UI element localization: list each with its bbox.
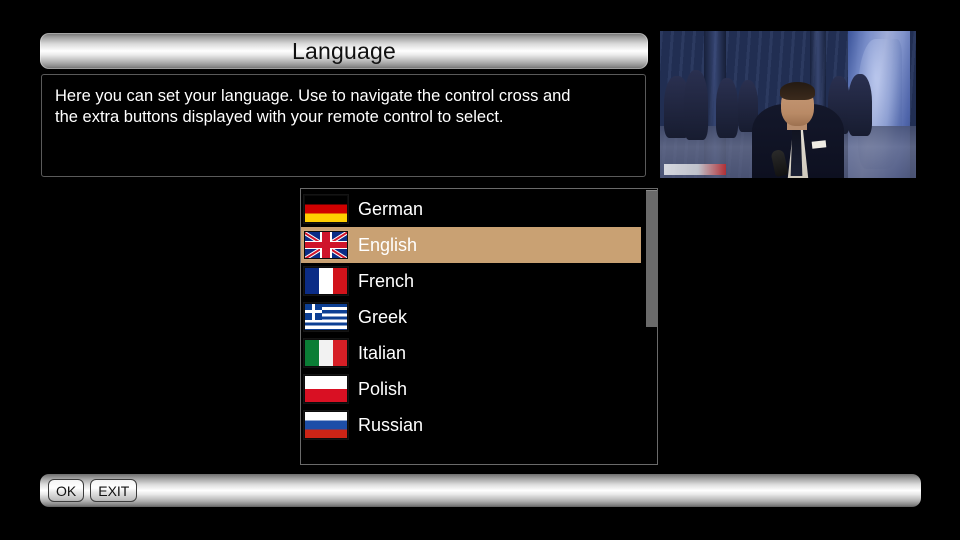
page-title-bar: Language: [40, 33, 648, 69]
live-tv-preview[interactable]: [660, 31, 916, 178]
language-list-item-label: French: [358, 272, 414, 290]
osd-screen: Language Here you can set your language.…: [0, 0, 960, 540]
ok-button[interactable]: OK: [48, 479, 84, 502]
exit-button[interactable]: EXIT: [90, 479, 137, 502]
description-text: Here you can set your language. Use to n…: [55, 86, 632, 128]
language-list-item-label: Russian: [358, 416, 423, 434]
page-title: Language: [292, 40, 396, 63]
flag-poland-icon: [304, 375, 348, 403]
preview-reporter-hair: [780, 82, 815, 100]
language-list[interactable]: GermanEnglishFrenchGreekItalianPolishRus…: [301, 191, 641, 443]
language-list-item-label: Greek: [358, 308, 407, 326]
exit-button-label: EXIT: [98, 484, 129, 498]
language-list-item[interactable]: French: [301, 263, 641, 299]
ok-button-label: OK: [56, 484, 76, 498]
preview-crowd-figure: [684, 70, 708, 140]
preview-broadcaster-logo: [664, 164, 726, 175]
language-list-item-label: Polish: [358, 380, 407, 398]
language-list-panel[interactable]: GermanEnglishFrenchGreekItalianPolishRus…: [300, 188, 658, 465]
flag-germany-icon: [304, 195, 348, 223]
language-list-item-label: Italian: [358, 344, 406, 362]
language-list-item[interactable]: German: [301, 191, 641, 227]
flag-italy-icon: [304, 339, 348, 367]
flag-greece-icon: [304, 303, 348, 331]
description-panel: Here you can set your language. Use to n…: [41, 74, 646, 177]
flag-russia-icon: [304, 411, 348, 439]
language-list-item-label: German: [358, 200, 423, 218]
language-list-item-label: English: [358, 236, 417, 254]
preview-crowd-figure: [848, 74, 872, 136]
flag-france-icon: [304, 267, 348, 295]
language-list-item[interactable]: Russian: [301, 407, 641, 443]
language-list-item[interactable]: English: [301, 227, 641, 263]
flag-united-kingdom-icon: [304, 231, 348, 259]
softkey-bar: OK EXIT: [40, 474, 921, 507]
preview-reporter-pocket-square: [812, 140, 827, 148]
preview-crowd-figure: [716, 78, 738, 138]
language-list-item[interactable]: Greek: [301, 299, 641, 335]
language-list-item[interactable]: Polish: [301, 371, 641, 407]
language-list-item[interactable]: Italian: [301, 335, 641, 371]
language-list-scrollbar-thumb[interactable]: [646, 190, 657, 327]
